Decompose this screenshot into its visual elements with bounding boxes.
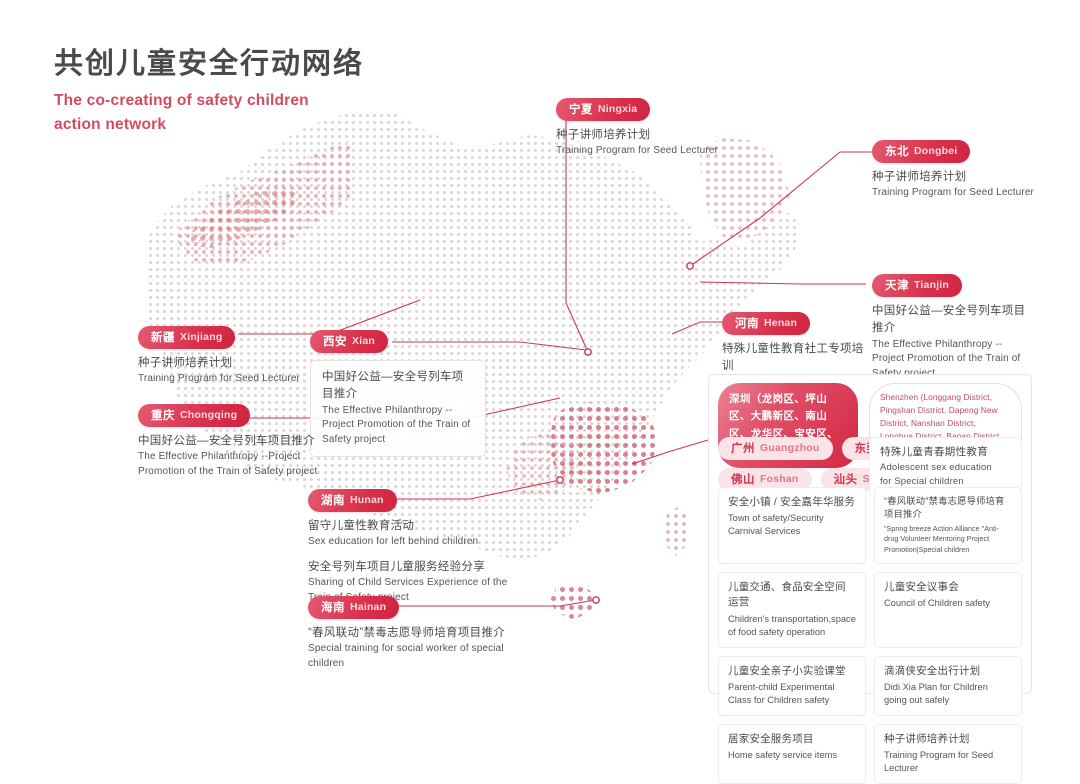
region-pill-xinjiang-en: Xinjiang [180, 331, 222, 343]
region-pill-hunan[interactable]: 湖南 Hunan [308, 489, 397, 512]
region-pill-xinjiang-cn: 新疆 [151, 329, 175, 345]
program-card-en: Parent-child Experimental Class for Chil… [728, 681, 856, 707]
entry-cn: 特殊儿童性教育社工专项培训 [722, 341, 872, 376]
program-card-cn: 滴滴侠安全出行计划 [884, 664, 1012, 679]
program-card-cn: 居家安全服务项目 [728, 732, 856, 747]
program-card-cn: 儿童安全议事会 [884, 580, 1012, 595]
callout-tianjin: 天津 Tianjin 中国好公益—安全号列车项目推介 The Effective… [872, 274, 1032, 381]
program-card: 安全小镇 / 安全嘉年华服务 Town of safety/Security C… [718, 487, 866, 564]
program-card-en: Council of Children safety [884, 597, 1012, 610]
region-pill-xian-cn: 西安 [323, 333, 347, 349]
region-pill-dongbei-en: Dongbei [914, 145, 957, 157]
guangdong-programs-panel: 深圳（龙岗区、坪山区、大鹏新区、南山区、龙华区、宝安区、罗湖区、福田区） She… [708, 374, 1032, 694]
callout-entry: 种子讲师培养计划 Training Program for Seed Lectu… [872, 169, 1072, 201]
map-region-hainan [550, 582, 592, 620]
city-pill-guangzhou-en: Guangzhou [760, 442, 820, 454]
entry-cn: 中国好公益—安全号列车项目推介 [322, 369, 474, 404]
region-pill-hainan[interactable]: 海南 Hainan [308, 596, 399, 619]
entry-en: The Effective Philanthropy --Project Pro… [138, 450, 338, 479]
callout-chongqing: 重庆 Chongqing 中国好公益—安全号列车项目推介 The Effecti… [138, 404, 338, 479]
callout-entry: 种子讲师培养计划 Training Program for Seed Lectu… [556, 127, 766, 159]
program-card-en: Town of safety/Security Carnival Service… [728, 512, 856, 538]
program-card-cn: 儿童安全亲子小实验课堂 [728, 664, 856, 679]
region-pill-ningxia[interactable]: 宁夏 Ningxia [556, 98, 650, 121]
callout-entry: 中国好公益—安全号列车项目推介 The Effective Philanthro… [872, 303, 1032, 381]
program-card: 儿童安全议事会 Council of Children safety [874, 572, 1022, 647]
program-card-cn: 安全小镇 / 安全嘉年华服务 [728, 495, 856, 510]
program-card-cn: 种子讲师培养计划 [884, 732, 1012, 747]
entry-en: Sex education for left behind children [308, 535, 528, 550]
page-title-cn: 共创儿童安全行动网络 [54, 46, 364, 82]
region-pill-dongbei[interactable]: 东北 Dongbei [872, 140, 970, 163]
region-pill-ningxia-cn: 宁夏 [569, 101, 593, 117]
map-region-guangdong [548, 402, 660, 494]
region-pill-tianjin-en: Tianjin [914, 279, 949, 291]
entry-en: The Effective Philanthropy --Project Pro… [322, 404, 474, 448]
program-card-cn: 儿童交通、食品安全空间运营 [728, 580, 856, 610]
map-region-xinjiang [176, 140, 352, 266]
region-pill-xinjiang[interactable]: 新疆 Xinjiang [138, 326, 235, 349]
page-title-en: The co-creating of safety children actio… [54, 89, 364, 136]
region-pill-hunan-cn: 湖南 [321, 492, 345, 508]
entry-cn: 留守儿童性教育活动 [308, 518, 528, 535]
city-pill-guangzhou[interactable]: 广州 Guangzhou [718, 437, 833, 460]
entry-cn: “春风联动”禁毒志愿导师培育项目推介 [308, 625, 528, 642]
callout-ningxia: 宁夏 Ningxia 种子讲师培养计划 Training Program for… [556, 98, 766, 159]
callout-entry: 中国好公益—安全号列车项目推介 The Effective Philanthro… [138, 433, 338, 479]
infographic-canvas: 共创儿童安全行动网络 The co-creating of safety chi… [0, 0, 1080, 733]
city-pill-foshan-en: Foshan [760, 473, 799, 485]
connector-panel [632, 440, 708, 464]
region-pill-chongqing-en: Chongqing [180, 409, 237, 421]
entry-en: Special training for social worker of sp… [308, 642, 528, 671]
region-pill-hainan-en: Hainan [350, 601, 386, 613]
region-pill-chongqing-cn: 重庆 [151, 407, 175, 423]
city-pill-foshan-cn: 佛山 [731, 471, 755, 487]
region-pill-hunan-en: Hunan [350, 494, 384, 506]
program-card-en: Home safety service items [728, 749, 856, 762]
region-pill-chongqing[interactable]: 重庆 Chongqing [138, 404, 250, 427]
connector-henan [672, 322, 724, 334]
page-title: 共创儿童安全行动网络 The co-creating of safety chi… [54, 46, 364, 136]
program-card: 儿童交通、食品安全空间运营 Children's transportation,… [718, 572, 866, 647]
program-card-en: Training Program for Seed Lecturer [884, 749, 1012, 775]
page-title-en-line2: action network [54, 113, 364, 136]
program-card: 儿童安全亲子小实验课堂 Parent-child Experimental Cl… [718, 656, 866, 716]
page-title-en-line1: The co-creating of safety children [54, 89, 364, 112]
connector-tianjin [700, 282, 866, 284]
map-region-taiwan [662, 506, 690, 556]
entry-cn: 种子讲师培养计划 [556, 127, 766, 144]
program-card: “春风联动”禁毒志愿导师培育项目推介 "Spring breeze Action… [874, 487, 1022, 564]
program-card-en: "Spring breeze Action Alliance "Anti-dru… [884, 524, 1012, 555]
program-card-en: Didi Xia Plan for Children going out saf… [884, 681, 1012, 707]
region-pill-hainan-cn: 海南 [321, 599, 345, 615]
callout-entry: 留守儿童性教育活动 Sex education for left behind … [308, 518, 528, 550]
region-pill-xian[interactable]: 西安 Xian [310, 330, 388, 353]
program-card: 滴滴侠安全出行计划 Didi Xia Plan for Children goi… [874, 656, 1022, 716]
city-pill-shantou-cn: 汕头 [834, 471, 858, 487]
entry-en: Training Program for Seed Lecturer [872, 186, 1072, 201]
region-pill-henan-en: Henan [764, 317, 797, 329]
callout-hainan: 海南 Hainan “春风联动”禁毒志愿导师培育项目推介 Special tra… [308, 596, 528, 671]
entry-en: Training Program for Seed Lecturer [556, 144, 766, 159]
callout-dongbei: 东北 Dongbei 种子讲师培养计划 Training Program for… [872, 140, 1072, 201]
region-pill-tianjin[interactable]: 天津 Tianjin [872, 274, 962, 297]
program-card-grid: 安全小镇 / 安全嘉年华服务 Town of safety/Security C… [718, 487, 1022, 784]
region-pill-xian-en: Xian [352, 335, 375, 347]
callout-entry: “春风联动”禁毒志愿导师培育项目推介 Special training for … [308, 625, 528, 671]
region-pill-tianjin-cn: 天津 [885, 277, 909, 293]
region-pill-ningxia-en: Ningxia [598, 103, 637, 115]
connector-endpoints [557, 263, 693, 603]
region-pill-henan-cn: 河南 [735, 315, 759, 331]
entry-cn: 中国好公益—安全号列车项目推介 [872, 303, 1032, 338]
program-card-cn: 特殊儿童青春期性教育 [880, 445, 1011, 461]
entry-cn: 安全号列车项目儿童服务经验分享 [308, 559, 528, 576]
program-card-en-line1: Adolescent sex education [880, 461, 1011, 475]
region-pill-henan[interactable]: 河南 Henan [722, 312, 810, 335]
program-card-en: Children's transportation,space of food … [728, 613, 856, 639]
region-pill-dongbei-cn: 东北 [885, 143, 909, 159]
entry-cn: 中国好公益—安全号列车项目推介 [138, 433, 338, 450]
connector-dongbei [690, 152, 874, 266]
city-pill-row: 广州 Guangzhou 东莞 Dongguan [718, 437, 863, 460]
callout-hunan: 湖南 Hunan 留守儿童性教育活动 Sex education for lef… [308, 489, 528, 605]
city-pill-guangzhou-cn: 广州 [731, 440, 755, 456]
entry-cn: 种子讲师培养计划 [872, 169, 1072, 186]
program-card-cn: “春风联动”禁毒志愿导师培育项目推介 [884, 495, 1012, 522]
